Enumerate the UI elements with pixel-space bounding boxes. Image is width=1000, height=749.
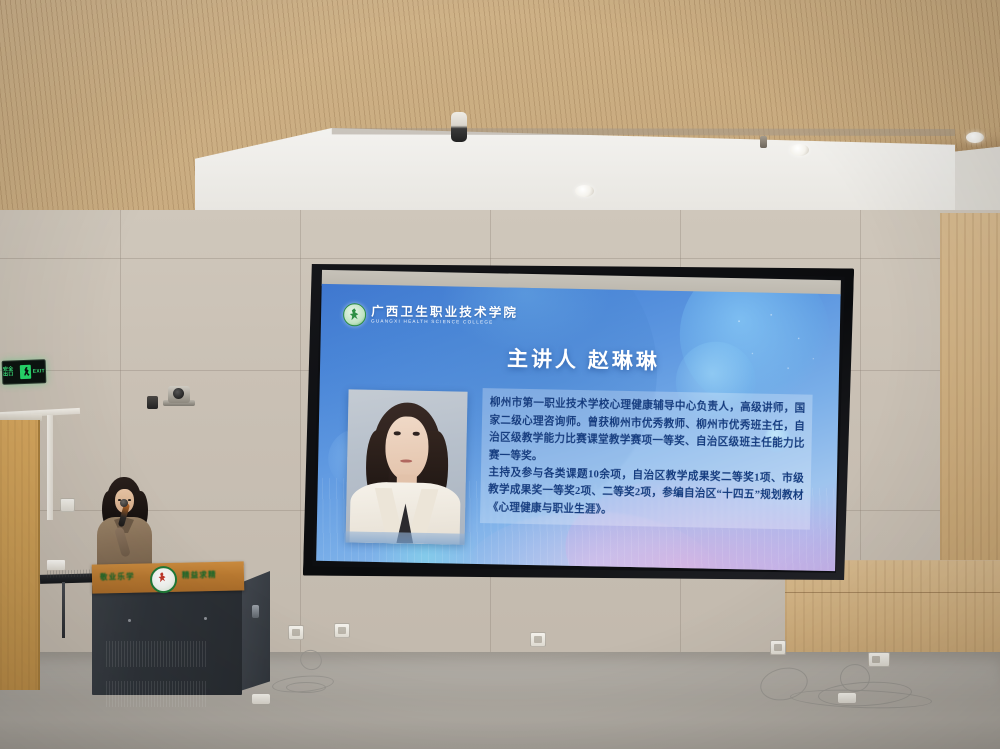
downlight-icon	[966, 132, 984, 143]
power-outlet[interactable]	[530, 632, 546, 647]
wall-conduit-vertical	[47, 415, 53, 520]
podium: 敬业乐学 精益求精	[92, 563, 270, 695]
power-outlet[interactable]	[288, 625, 304, 640]
podium-handle[interactable]	[252, 605, 259, 618]
lecture-hall-photo: 安全出口 EXIT	[0, 0, 1000, 749]
school-name-cn: 广西卫生职业技术学院	[371, 305, 518, 319]
slide-sparkle-dots	[728, 309, 819, 381]
podium-motto-left: 敬业乐学	[100, 573, 135, 581]
power-outlet[interactable]	[334, 623, 350, 638]
sprinkler-icon	[760, 136, 767, 148]
cable-adapter	[252, 694, 270, 704]
door[interactable]	[0, 420, 40, 690]
exit-sign: 安全出口 EXIT	[2, 359, 47, 385]
slide-bio-paragraph-1: 柳州市第一职业技术学校心理健康辅导中心负责人，高级讲师，国家二级心理咨询师。曾获…	[489, 394, 806, 470]
right-wall-wood-upper	[940, 213, 1000, 573]
slide-bio-panel: 柳州市第一职业技术学校心理健康辅导中心负责人，高级讲师，国家二级心理咨询师。曾获…	[480, 388, 812, 530]
wall-device-icon	[147, 396, 158, 409]
school-name-en: GUANGXI HEALTH SCIENCE COLLEGE	[371, 320, 518, 326]
microphone-head-icon	[120, 499, 128, 507]
power-outlet[interactable]	[770, 640, 786, 655]
speaker-portrait	[345, 390, 467, 545]
power-outlet[interactable]	[868, 652, 890, 667]
presenter	[95, 477, 153, 572]
projection-screen[interactable]: 广西卫生职业技术学院 GUANGXI HEALTH SCIENCE COLLEG…	[303, 258, 854, 587]
cable-adapter	[838, 693, 856, 703]
exit-sign-label-cn: 安全出口	[3, 367, 18, 378]
school-emblem-icon	[343, 303, 366, 326]
wall-switch[interactable]	[60, 498, 75, 512]
slide-title: 主讲人 赵琳琳	[507, 343, 660, 376]
podium-nameplate: 敬业乐学 精益求精	[92, 561, 245, 593]
slide-bio-paragraph-2: 主持及参与各类课题10余项，自治区教学成果奖二等奖1项、市级教学成果奖一等奖2项…	[488, 464, 805, 523]
podium-motto-right: 精益求精	[182, 571, 217, 579]
floor-cable	[840, 664, 870, 692]
slide-school-logo: 广西卫生职业技术学院 GUANGXI HEALTH SCIENCE COLLEG…	[343, 303, 518, 328]
podium-vent	[106, 681, 206, 707]
downlight-icon	[790, 144, 809, 156]
side-table-leg	[62, 582, 65, 638]
ceiling-camera-icon	[451, 112, 467, 142]
ptz-camera-icon	[168, 386, 190, 403]
paper-stack	[47, 560, 65, 570]
floor-cable	[286, 682, 326, 693]
podium-side-panel	[240, 571, 270, 691]
presentation-slide: 广西卫生职业技术学院 GUANGXI HEALTH SCIENCE COLLEG…	[316, 284, 840, 571]
downlight-icon	[575, 185, 594, 197]
podium-vent	[106, 641, 206, 667]
exit-sign-label-en: EXIT	[33, 369, 45, 374]
running-man-icon	[20, 365, 31, 379]
school-emblem-icon	[150, 566, 178, 594]
right-wall-wood-seam	[785, 592, 1000, 593]
podium-front-panel	[92, 585, 242, 695]
